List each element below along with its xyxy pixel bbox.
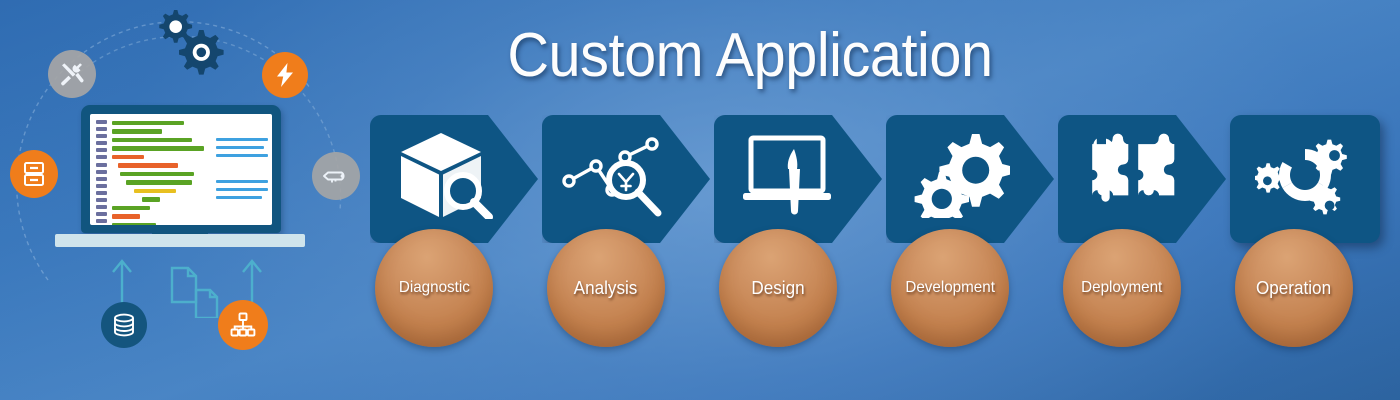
key-icon <box>322 167 350 185</box>
process-step-development[interactable]: Development <box>886 115 1054 243</box>
step-label-bubble[interactable]: Diagnostic <box>375 229 493 347</box>
gutter-line <box>96 205 107 209</box>
code-line <box>134 189 176 193</box>
code-line <box>118 163 178 167</box>
database-badge[interactable] <box>101 302 147 348</box>
monitor-paintbrush-icon <box>739 133 839 217</box>
code-line <box>112 155 144 159</box>
step-icon-container <box>1230 125 1380 225</box>
laptop-code-illustration <box>0 0 372 400</box>
banner-stage: Custom Application Diagnostic Analysis <box>0 0 1400 400</box>
step-label: Diagnostic <box>399 278 470 298</box>
process-steps: Diagnostic Analysis Design <box>370 115 1390 355</box>
code-line <box>112 223 156 225</box>
tools-badge[interactable] <box>48 50 96 98</box>
gutter-line <box>96 219 107 223</box>
code-line <box>126 180 192 184</box>
step-label: Analysis <box>574 278 638 298</box>
process-step-diagnostic[interactable]: Diagnostic <box>370 115 538 243</box>
code-line <box>142 197 160 201</box>
gutter-line <box>96 177 107 181</box>
server-badge[interactable] <box>10 150 58 198</box>
gutter-line <box>96 212 107 216</box>
step-label-bubble[interactable]: Analysis <box>547 229 665 347</box>
step-label: Design <box>751 278 804 298</box>
crossed-tools-icon <box>59 61 85 87</box>
gutter-line <box>96 170 107 174</box>
step-card <box>370 115 538 243</box>
gutter-line <box>96 198 107 202</box>
gears-pair-icon <box>150 6 232 80</box>
gutter-line <box>96 191 107 195</box>
puzzle-wrench-icon <box>1081 133 1185 217</box>
sitemap-icon <box>230 312 256 338</box>
step-label-bubble[interactable]: Deployment <box>1063 229 1181 347</box>
gutter-line <box>96 163 107 167</box>
code-line <box>112 214 140 218</box>
step-card <box>1230 115 1380 243</box>
gutter-line <box>96 120 107 124</box>
step-label-bubble[interactable]: Development <box>891 229 1009 347</box>
step-card <box>714 115 882 243</box>
code-line <box>112 121 184 125</box>
laptop-base <box>55 234 305 247</box>
line-number-gutter <box>96 120 107 219</box>
step-card <box>886 115 1054 243</box>
code-line <box>112 146 204 150</box>
side-panel-lines <box>216 138 268 204</box>
step-label-bubble[interactable]: Design <box>719 229 837 347</box>
code-editor-screen <box>90 114 272 225</box>
circle-gears-icon <box>1255 133 1355 217</box>
process-step-analysis[interactable]: Analysis <box>542 115 710 243</box>
step-icon-container <box>714 125 864 225</box>
gutter-line <box>96 134 107 138</box>
code-lines <box>112 121 206 221</box>
gutter-line <box>96 155 107 159</box>
lightning-bolt-icon <box>274 62 296 88</box>
process-step-deployment[interactable]: Deployment <box>1058 115 1226 243</box>
sitemap-badge[interactable] <box>218 300 268 350</box>
gutter-line <box>96 184 107 188</box>
database-icon <box>113 313 135 337</box>
document-outline-icon <box>172 268 196 302</box>
line-chart-magnifier-icon <box>562 133 672 217</box>
document-outline-icon <box>196 290 217 318</box>
step-card <box>1058 115 1226 243</box>
gutter-line <box>96 127 107 131</box>
step-label: Operation <box>1256 278 1331 298</box>
step-icon-container <box>370 125 520 225</box>
page-title: Custom Application <box>499 22 1001 90</box>
server-rack-icon <box>22 161 46 187</box>
key-badge[interactable] <box>312 152 360 200</box>
step-label: Development <box>905 278 995 298</box>
gutter-line <box>96 148 107 152</box>
code-line <box>112 138 192 142</box>
bolt-badge[interactable] <box>262 52 308 98</box>
code-line <box>112 206 150 210</box>
step-icon-container <box>1058 125 1208 225</box>
step-label-bubble[interactable]: Operation <box>1235 229 1353 347</box>
box-magnifier-icon <box>397 131 493 219</box>
step-card <box>542 115 710 243</box>
code-line <box>112 129 162 133</box>
laptop-with-code-editor <box>81 105 281 233</box>
process-step-design[interactable]: Design <box>714 115 882 243</box>
gears-icon <box>912 132 1010 218</box>
step-icon-container <box>886 125 1036 225</box>
code-line <box>120 172 194 176</box>
step-icon-container <box>542 125 692 225</box>
process-step-operation[interactable]: Operation <box>1230 115 1398 243</box>
step-label: Deployment <box>1081 278 1162 298</box>
gutter-line <box>96 141 107 145</box>
